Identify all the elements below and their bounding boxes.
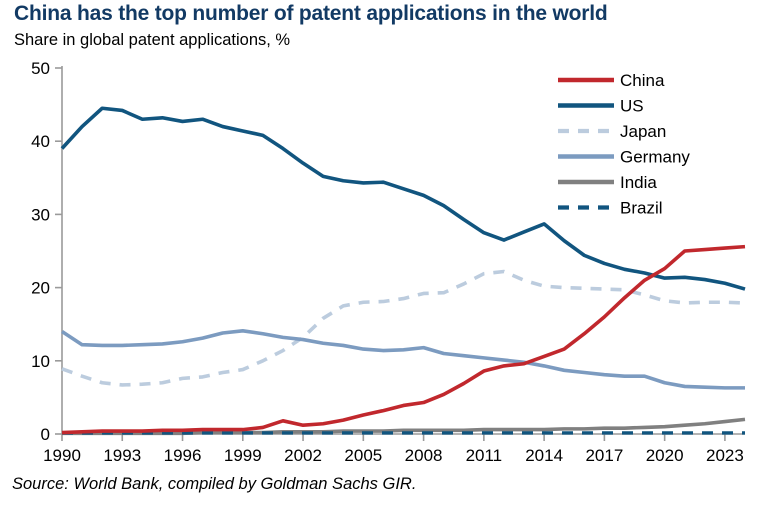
patent-share-chart-figure: China has the top number of patent appli…: [0, 0, 773, 511]
series-line-germany: [62, 331, 745, 388]
chart-plot-area: 0102030405019901993199619992002200520082…: [0, 0, 773, 470]
y-tick-label: 30: [31, 205, 50, 224]
y-tick-label: 20: [31, 279, 50, 298]
x-tick-label: 2020: [646, 446, 684, 465]
y-tick-label: 50: [31, 59, 50, 78]
x-tick-label: 2005: [344, 446, 382, 465]
chart-source-note: Source: World Bank, compiled by Goldman …: [12, 475, 416, 494]
y-tick-label: 0: [41, 425, 50, 444]
x-tick-label: 1990: [43, 446, 81, 465]
x-tick-label: 1999: [224, 446, 262, 465]
legend-label-china: China: [620, 71, 665, 90]
series-line-china: [62, 247, 745, 433]
y-tick-label: 10: [31, 352, 50, 371]
x-tick-label: 2008: [405, 446, 443, 465]
legend-label-germany: Germany: [620, 148, 690, 167]
x-tick-label: 2017: [585, 446, 623, 465]
y-tick-label: 40: [31, 132, 50, 151]
series-line-japan: [62, 272, 745, 385]
legend-label-india: India: [620, 173, 657, 192]
x-tick-label: 2002: [284, 446, 322, 465]
x-tick-label: 1996: [164, 446, 202, 465]
legend-label-japan: Japan: [620, 122, 666, 141]
legend-label-brazil: Brazil: [620, 199, 663, 218]
x-tick-label: 2023: [706, 446, 744, 465]
x-tick-label: 1993: [103, 446, 141, 465]
x-tick-label: 2014: [525, 446, 563, 465]
x-tick-label: 2011: [466, 446, 503, 465]
legend-label-us: US: [620, 97, 644, 116]
